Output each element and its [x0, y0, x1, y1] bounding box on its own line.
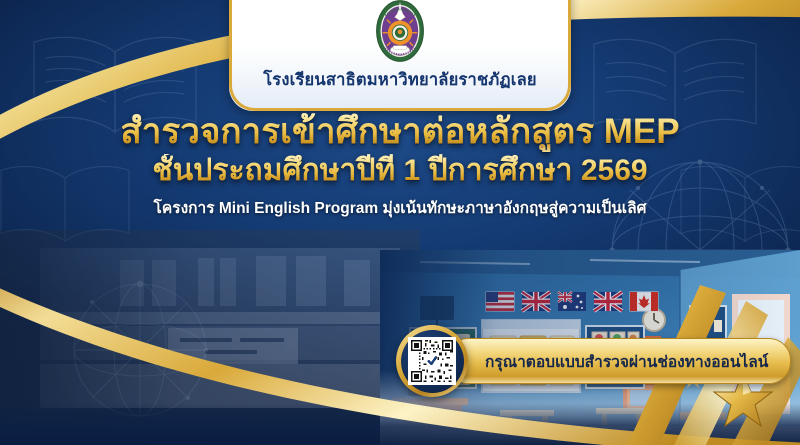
header-panel: โรงเรียนสาธิตมหาวิทยาลัยราชภัฏเลย [229, 0, 571, 111]
mep-admission-poster: โรงเรียนสาธิตมหาวิทยาลัยราชภัฏเลย สำรวจก… [0, 0, 800, 445]
qr-code-badge[interactable] [396, 325, 468, 397]
school-name: โรงเรียนสาธิตมหาวิทยาลัยราชภัฏเลย [263, 67, 537, 93]
cta-block[interactable]: กรุณาตอบแบบสำรวจผ่านช่องทางออนไลน์ [396, 325, 791, 397]
university-seal-logo [374, 0, 426, 64]
qr-disc [401, 330, 464, 393]
cta-banner[interactable]: กรุณาตอบแบบสำรวจผ่านช่องทางออนไลน์ [446, 338, 791, 384]
title-tagline: โครงการ Mini English Program มุ่งเน้นทัก… [0, 195, 800, 220]
title-line-1: สำรวจการเข้าศึกษาต่อหลักสูตร MEP [0, 112, 800, 152]
cta-banner-text: กรุณาตอบแบบสำรวจผ่านช่องทางออนไลน์ [485, 349, 768, 374]
school-building-photo [0, 230, 420, 445]
qr-code[interactable] [408, 337, 456, 385]
title-block: สำรวจการเข้าศึกษาต่อหลักสูตร MEP ชั้นประ… [0, 112, 800, 220]
title-line-2: ชั้นประถมศึกษาปีที่ 1 ปีการศึกษา 2569 [0, 154, 800, 189]
